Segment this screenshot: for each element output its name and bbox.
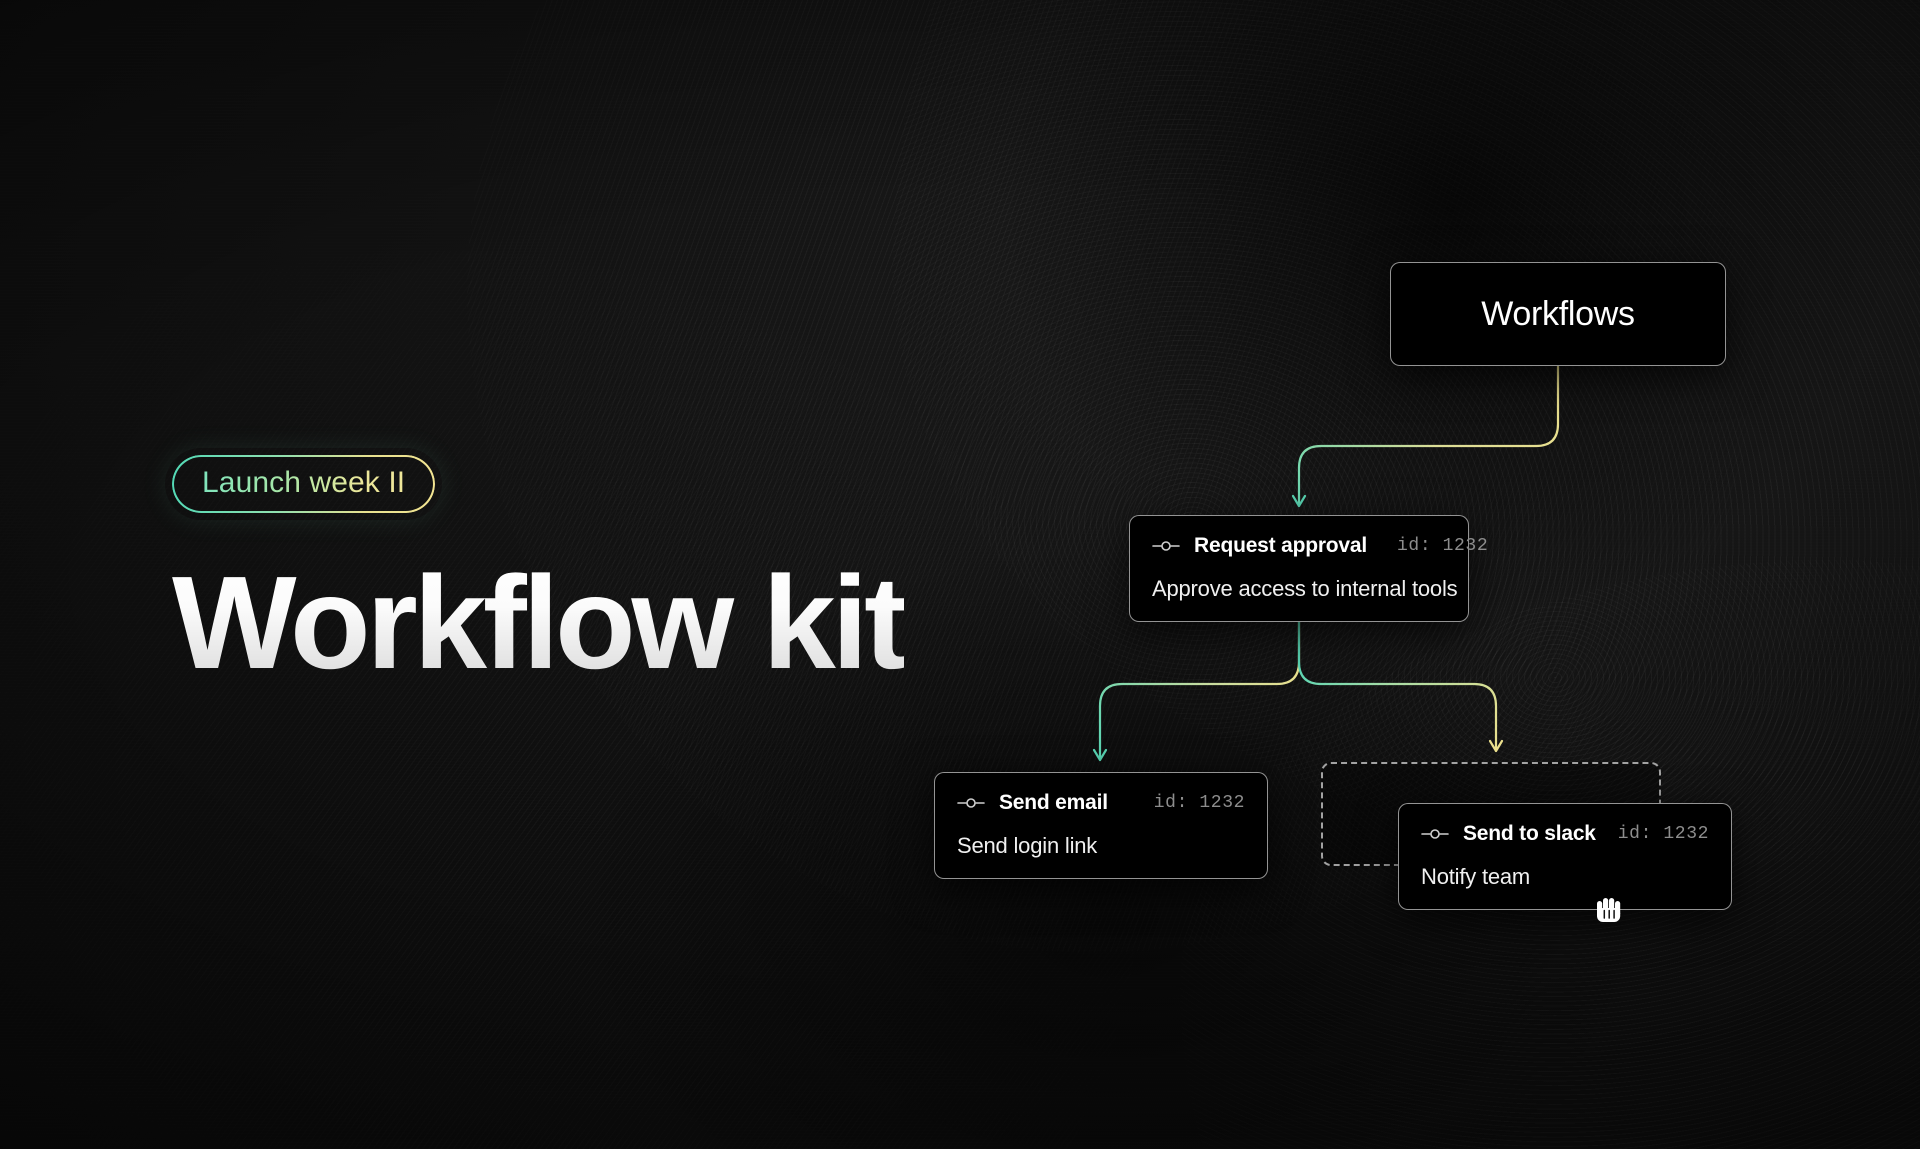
node-connector-icon bbox=[957, 797, 985, 809]
workflow-node-id: id: 1232 bbox=[1618, 824, 1709, 844]
workflow-node-id: id: 1232 bbox=[1154, 793, 1245, 813]
launch-week-badge-label: Launch week II bbox=[202, 466, 405, 499]
workflow-node-description: Approve access to internal tools bbox=[1152, 576, 1446, 602]
workflow-node-header: Send email id: 1232 bbox=[957, 790, 1245, 816]
workflow-node-description: Send login link bbox=[957, 833, 1245, 859]
workflow-node-title: Request approval bbox=[1194, 534, 1367, 558]
hero-copy: Launch week II Workflow kit bbox=[172, 455, 904, 689]
workflow-node-root-label: Workflows bbox=[1481, 295, 1634, 334]
workflow-node-header: Request approval id: 1232 bbox=[1152, 533, 1446, 559]
workflow-node-id: id: 1232 bbox=[1397, 536, 1488, 556]
launch-week-badge[interactable]: Launch week II bbox=[172, 455, 435, 513]
workflow-node-send-to-slack[interactable]: Send to slack id: 1232 Notify team bbox=[1398, 803, 1732, 910]
workflow-node-header: Send to slack id: 1232 bbox=[1421, 821, 1709, 847]
page-title: Workflow kit bbox=[172, 557, 904, 689]
workflow-node-send-email[interactable]: Send email id: 1232 Send login link bbox=[934, 772, 1268, 879]
node-connector-icon bbox=[1152, 540, 1180, 552]
workflow-node-request-approval[interactable]: Request approval id: 1232 Approve access… bbox=[1129, 515, 1469, 622]
node-connector-icon bbox=[1421, 828, 1449, 840]
workflow-node-description: Notify team bbox=[1421, 864, 1709, 890]
workflow-node-root[interactable]: Workflows bbox=[1390, 262, 1726, 366]
workflow-node-title: Send email bbox=[999, 791, 1108, 815]
hero-canvas: Launch week II Workflow kit bbox=[0, 0, 1920, 1149]
workflow-node-title: Send to slack bbox=[1463, 822, 1596, 846]
